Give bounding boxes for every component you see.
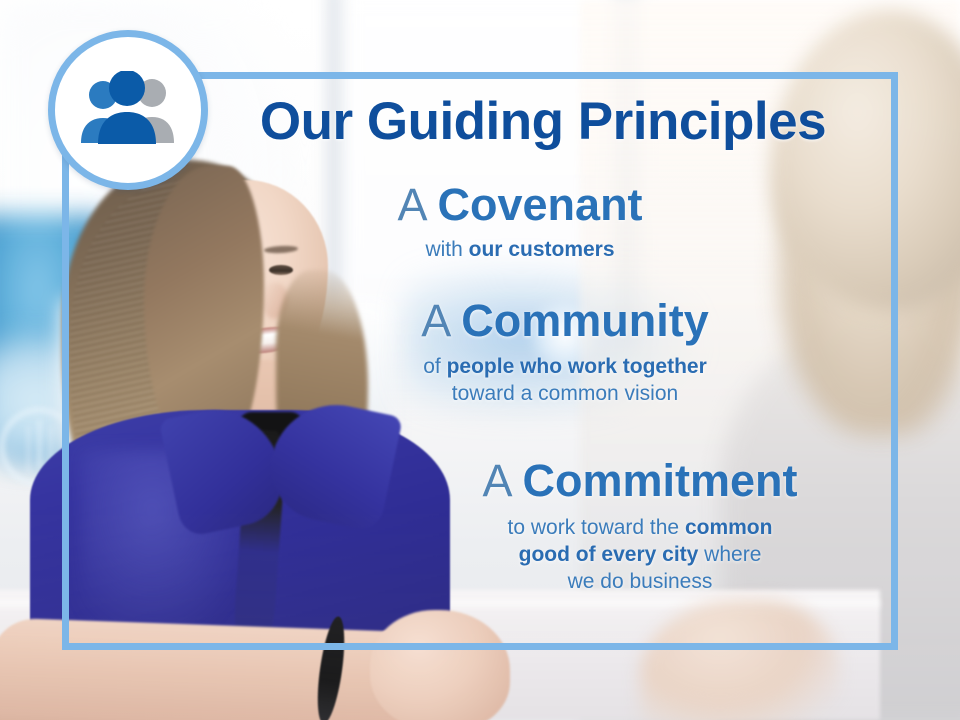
principle-article: A: [482, 455, 510, 506]
principle-block-covenant: A Covenant with our customers: [290, 182, 750, 264]
subtext-segment: of: [423, 355, 446, 378]
subtext-segment-bold: people who work together: [447, 355, 707, 378]
subtext-line: toward a common vision: [330, 381, 800, 408]
principle-block-commitment: A Commitment to work toward the common g…: [400, 458, 880, 596]
principle-subtext-covenant: with our customers: [290, 237, 750, 264]
principle-subtext-commitment: to work toward the common good of every …: [400, 515, 880, 596]
principle-article: A: [421, 295, 449, 346]
principle-subtext-community: of people who work together toward a com…: [330, 354, 800, 408]
subtext-line-bold: our customers: [469, 238, 615, 261]
subtext-line: of people who work together: [330, 354, 800, 381]
guiding-principles-banner: FLOW AUTOMOTIVE FLOW: [0, 0, 960, 720]
subtext-line: with: [425, 238, 468, 261]
subtext-segment-bold: good of every city: [519, 543, 699, 566]
principle-keyword: Covenant: [438, 179, 643, 230]
subtext-segment-bold: common: [685, 516, 773, 539]
subtext-line: we do business: [400, 569, 880, 596]
subtext-segment: to work toward the: [508, 516, 685, 539]
principle-keyword: Commitment: [523, 455, 798, 506]
principle-article: A: [397, 179, 425, 230]
principle-headline-community: A Community: [330, 298, 800, 344]
principle-headline-covenant: A Covenant: [290, 182, 750, 228]
subtext-line: good of every city where: [400, 542, 880, 569]
principle-block-community: A Community of people who work together …: [330, 298, 800, 408]
subtext-line: to work toward the common: [400, 515, 880, 542]
principle-keyword: Community: [461, 295, 709, 346]
principle-headline-commitment: A Commitment: [400, 458, 880, 504]
page-title: Our Guiding Principles: [213, 95, 873, 148]
text-content: Our Guiding Principles A Covenant with o…: [0, 0, 960, 720]
subtext-segment: where: [698, 543, 761, 566]
